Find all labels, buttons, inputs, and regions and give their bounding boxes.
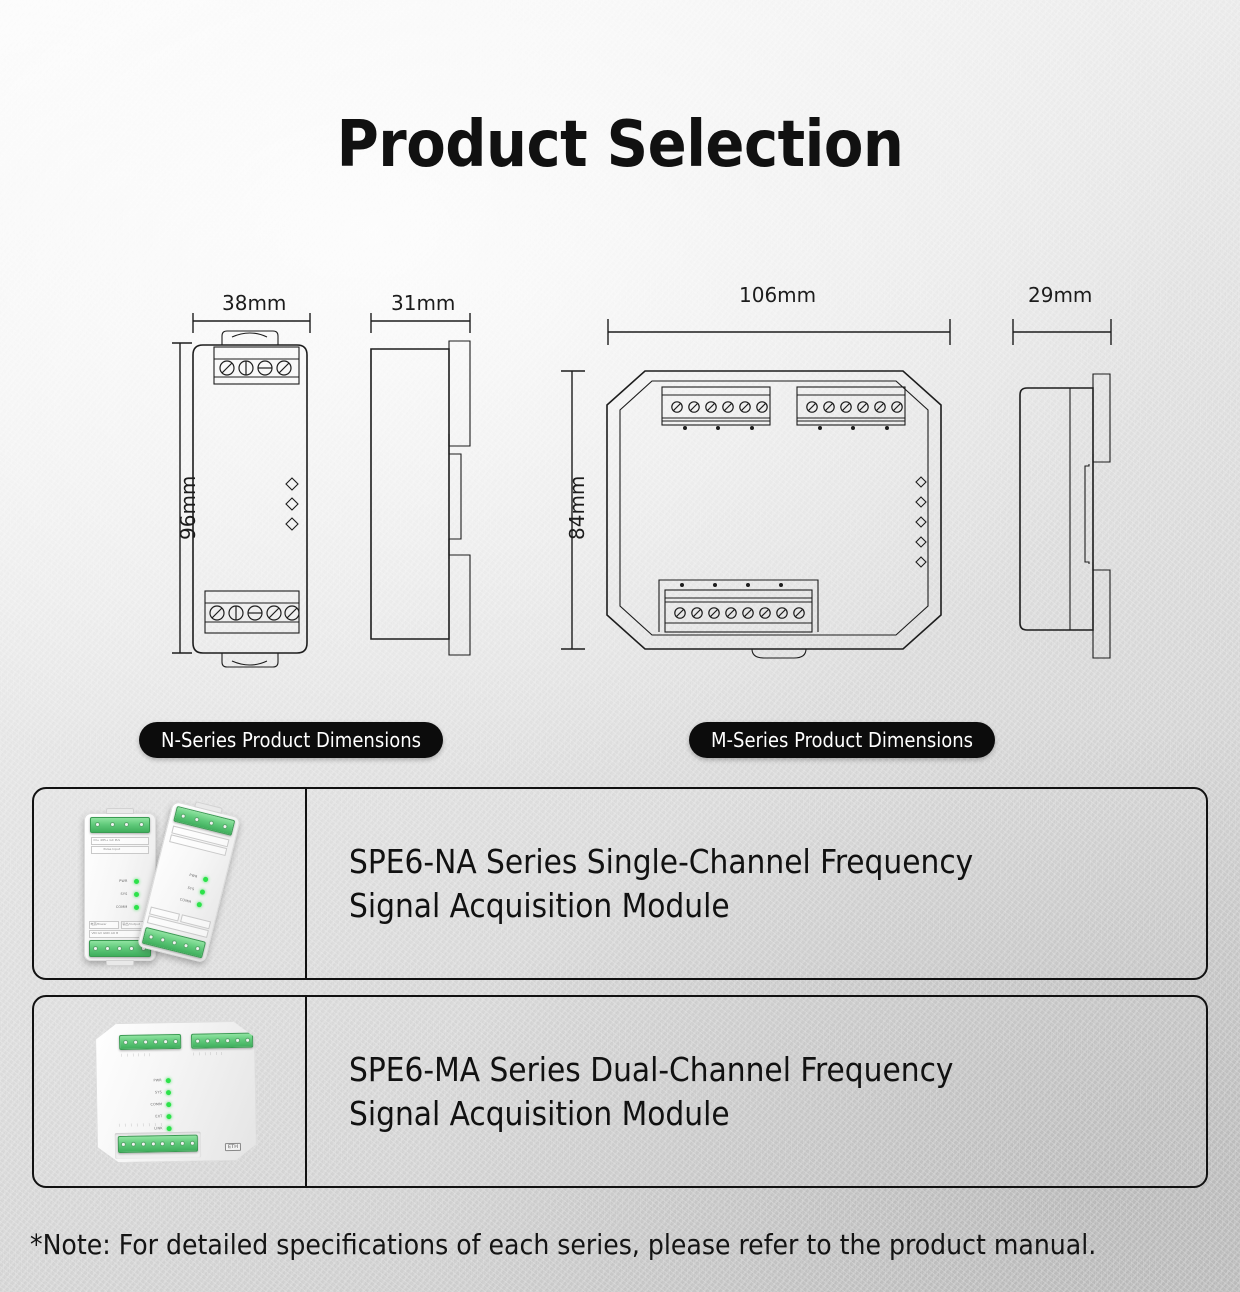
n-bottom-terminal <box>205 591 299 633</box>
din-clip-top <box>106 808 134 814</box>
terminal-bottom-m <box>117 1134 197 1152</box>
product-title-spe6-na: SPE6-NA Series Single-Channel Frequency … <box>307 789 1206 978</box>
n-width-dimension <box>193 313 310 333</box>
silk-top-label: DI+ 485+ GX PLS <box>94 838 121 842</box>
led-comm-rear <box>196 901 202 907</box>
product-title-line1: SPE6-NA Series Single-Channel Frequency <box>349 840 973 884</box>
terminal-top <box>90 817 150 833</box>
n-side-dimension <box>371 313 470 333</box>
product-selection-page: Product Selection 38mm 96mm 31mm <box>0 0 1240 1292</box>
led-sys-m <box>165 1090 170 1095</box>
led-label-comm-m: COMM <box>132 1102 162 1107</box>
badge-n-series-dimensions: N-Series Product Dimensions <box>139 722 443 758</box>
led-link-m <box>166 1126 171 1131</box>
led-comm <box>134 905 139 910</box>
n-series-body-outline <box>193 331 307 667</box>
product-card-spe6-na[interactable]: DI+ 485+ GX PLS Pulse Input PWR SYS COMM… <box>32 787 1208 980</box>
m-top-right-terminal <box>797 387 905 430</box>
top-right-pin-silk: |||||| <box>193 1051 227 1056</box>
product-image-spe6-na: DI+ 485+ GX PLS Pulse Input PWR SYS COMM… <box>34 789 307 978</box>
product-title-spe6-ma: SPE6-MA Series Dual-Channel Frequency Si… <box>307 997 1206 1186</box>
led-label-pwr-rear: PWR <box>175 869 197 878</box>
product-image-spe6-ma: |||||| |||||| PWR SYS COMM EXT LINK ||||… <box>34 997 307 1186</box>
led-pwr-rear <box>202 876 208 882</box>
silk-pins-label: VIN GV GND AO B <box>92 931 119 935</box>
terminal-top-left <box>118 1033 180 1049</box>
top-left-pin-silk: |||||| <box>121 1052 155 1057</box>
m-width-dimension <box>608 319 950 345</box>
n-series-drawing-svg <box>0 285 1240 685</box>
m-top-left-terminal <box>662 387 770 430</box>
product-title-line1: SPE6-MA Series Dual-Channel Frequency <box>349 1048 953 1092</box>
product-title-line2: Signal Acquisition Module <box>349 884 973 928</box>
led-pwr <box>134 879 139 884</box>
footer-note: *Note: For detailed specifications of ea… <box>30 1228 1096 1261</box>
n-height-dimension <box>172 343 192 653</box>
led-label-pwr-m: PWR <box>131 1078 161 1083</box>
silk-top-label-2: Pulse Input <box>104 847 121 851</box>
dimension-drawings: 38mm 96mm 31mm <box>0 285 1240 685</box>
din-clip-bottom <box>106 960 134 966</box>
n-led-diamonds <box>286 478 298 530</box>
led-label-comm-rear: COMM <box>165 893 191 903</box>
m-series-width-label: 106mm <box>739 283 816 307</box>
module-m-body: |||||| |||||| PWR SYS COMM EXT LINK ||||… <box>94 1020 256 1163</box>
n-top-terminal <box>214 347 299 384</box>
product-card-spe6-ma[interactable]: |||||| |||||| PWR SYS COMM EXT LINK ||||… <box>32 995 1208 1188</box>
led-pwr-m <box>165 1078 170 1083</box>
eth-port-label: ETH <box>224 1142 240 1150</box>
led-label-sys-m: SYS <box>131 1090 161 1095</box>
led-ext-m <box>166 1114 171 1119</box>
led-sys <box>134 892 139 897</box>
m-series-body-outline <box>607 371 941 658</box>
product-title-line2: Signal Acquisition Module <box>349 1092 953 1136</box>
page-title: Product Selection <box>0 108 1240 182</box>
led-label-ext-m: EXT <box>132 1114 162 1119</box>
photo-wall-module: |||||| |||||| PWR SYS COMM EXT LINK ||||… <box>70 1006 270 1178</box>
terminal-top-right <box>190 1032 252 1048</box>
m-led-diamonds <box>916 477 926 567</box>
m-series-depth-label: 29mm <box>1028 283 1092 307</box>
badge-m-series-dimensions: M-Series Product Dimensions <box>689 722 995 758</box>
led-label-pwr: PWR <box>106 879 128 883</box>
n-series-side-outline <box>371 341 470 655</box>
m-series-height-label: 84mm <box>565 476 589 540</box>
led-comm-m <box>166 1102 171 1107</box>
bottom-pin-silk: |||||||| <box>118 1122 166 1127</box>
led-label-comm: COMM <box>102 905 128 909</box>
photo-two-din-modules: DI+ 485+ GX PLS Pulse Input PWR SYS COMM… <box>70 799 270 969</box>
led-sys-rear <box>199 889 205 895</box>
silk-power-label: 电源/Power <box>91 922 107 926</box>
m-bottom-terminal <box>659 580 818 632</box>
m-series-side-outline <box>1020 374 1110 658</box>
led-label-sys: SYS <box>106 892 128 896</box>
silk-output-label: 输出/Output <box>123 922 140 926</box>
m-side-dimension <box>1013 319 1111 345</box>
led-label-sys-rear: SYS <box>172 882 194 891</box>
